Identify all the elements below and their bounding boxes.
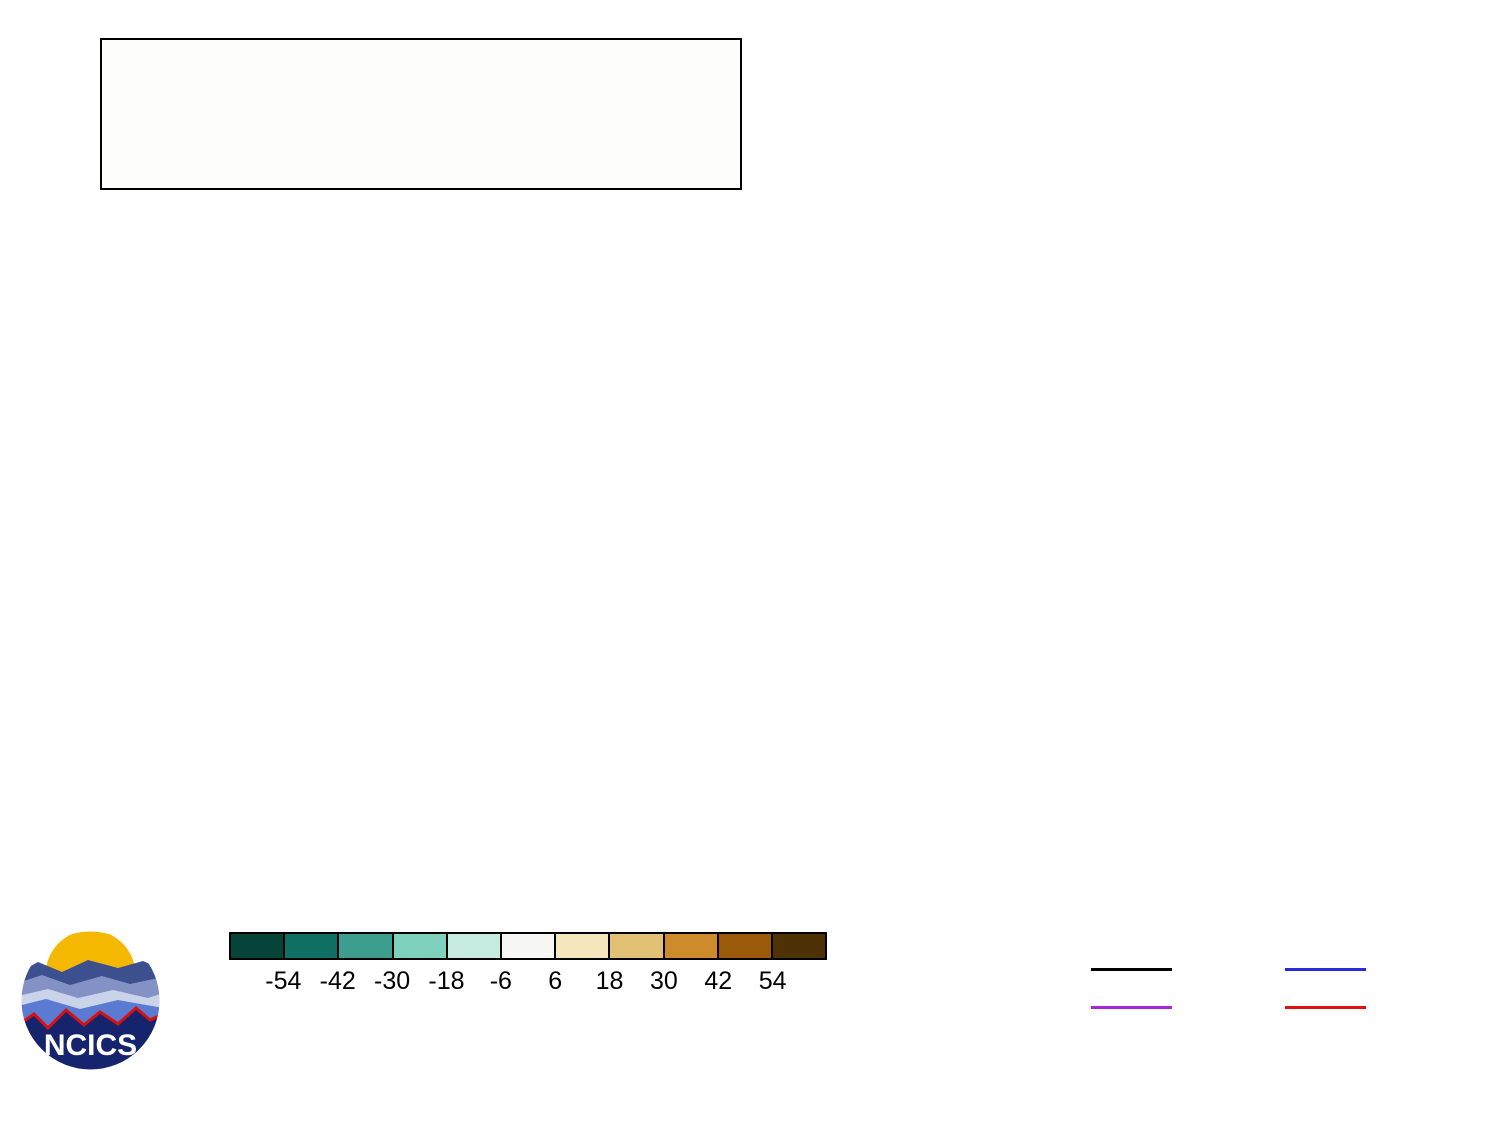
colorbar-bin-1 bbox=[283, 934, 337, 958]
map-panel bbox=[100, 38, 742, 190]
colorbar-tick-label: 54 bbox=[743, 967, 803, 996]
colorbar-tick-label: 42 bbox=[688, 967, 748, 996]
colorbar-tick-label: -42 bbox=[308, 967, 368, 996]
legend-line-er bbox=[1285, 1006, 1366, 1009]
colorbar-tick-label: -6 bbox=[471, 967, 531, 996]
colorbar-tick-label: 30 bbox=[634, 967, 694, 996]
ncics-logo-svg: NCICS bbox=[18, 928, 163, 1073]
legend-line-mjo bbox=[1091, 968, 1172, 971]
legend-line-kelvin bbox=[1285, 968, 1366, 971]
colorbar-bin-7 bbox=[608, 934, 662, 958]
ncics-logo-text: NCICS bbox=[44, 1029, 137, 1062]
colorbar-bin-3 bbox=[392, 934, 446, 958]
colorbar-bin-8 bbox=[663, 934, 717, 958]
colorbar-tick-label: -30 bbox=[362, 967, 422, 996]
colorbar-bin-0 bbox=[231, 934, 283, 958]
colorbar-bin-2 bbox=[337, 934, 391, 958]
colorbar-bin-5 bbox=[500, 934, 554, 958]
colorbar-tick-label: -54 bbox=[253, 967, 313, 996]
colorbar-tick-label: 6 bbox=[525, 967, 585, 996]
legend-line-low bbox=[1091, 1006, 1172, 1009]
colorbar-tick-label: -18 bbox=[416, 967, 476, 996]
colorbar-bin-10 bbox=[771, 934, 825, 958]
colorbar-bin-9 bbox=[717, 934, 771, 958]
colorbar-bin-6 bbox=[554, 934, 608, 958]
colorbar-bin-4 bbox=[446, 934, 500, 958]
colorbar-tick-label: 18 bbox=[580, 967, 640, 996]
ncics-logo: NCICS bbox=[18, 928, 163, 1073]
colorbar bbox=[229, 932, 827, 960]
